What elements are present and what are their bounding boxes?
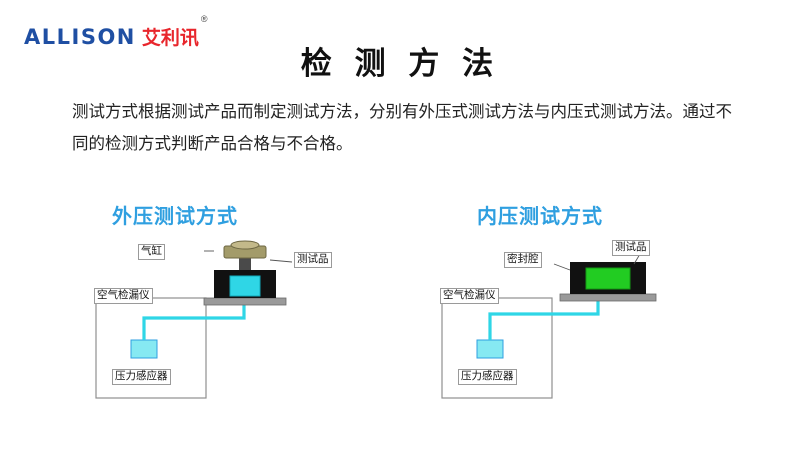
label-chamber-right: 密封腔 bbox=[504, 252, 542, 268]
sample-part-left bbox=[230, 276, 260, 296]
intro-paragraph: 测试方式根据测试产品而制定测试方法，分别有外压式测试方法与内压式测试方法。通过不… bbox=[72, 96, 732, 160]
page-title: 检 测 方 法 bbox=[0, 38, 800, 83]
leader-line-sample-left bbox=[270, 260, 292, 262]
registered-mark-icon: ® bbox=[201, 15, 208, 24]
cylinder-cap-left bbox=[231, 241, 259, 249]
leader-line-chamber-right bbox=[554, 264, 570, 270]
diagram-internal-pressure: 密封腔 测试品 空气检漏仪 压力感应器 bbox=[408, 240, 768, 420]
label-sensor-right: 压力感应器 bbox=[458, 369, 517, 385]
diagram-external-pressure: 气缸 测试品 空气检漏仪 压力感应器 bbox=[18, 240, 378, 420]
label-detector-right: 空气检漏仪 bbox=[440, 288, 499, 304]
section-heading-internal: 内压测试方式 bbox=[477, 200, 603, 229]
label-sample-right: 测试品 bbox=[612, 240, 650, 256]
section-heading-external: 外压测试方式 bbox=[112, 200, 238, 229]
label-sensor-left: 压力感应器 bbox=[112, 369, 171, 385]
label-detector-left: 空气检漏仪 bbox=[94, 288, 153, 304]
sensor-icon-left bbox=[131, 340, 157, 358]
label-cylinder-left: 气缸 bbox=[138, 244, 165, 260]
base-plate-left bbox=[204, 298, 286, 305]
sample-part-right bbox=[586, 268, 630, 289]
base-plate-right bbox=[560, 294, 656, 301]
label-sample-left: 测试品 bbox=[294, 252, 332, 268]
sensor-icon-right bbox=[477, 340, 503, 358]
diagram-internal-svg bbox=[408, 240, 768, 420]
